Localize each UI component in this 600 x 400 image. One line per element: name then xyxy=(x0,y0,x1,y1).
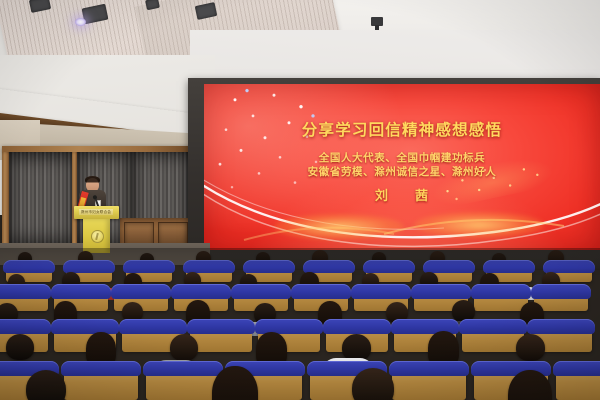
podium-nameplate: 滁州市妇女联合会 xyxy=(79,209,113,215)
auditorium-seat xyxy=(190,326,252,352)
screen-gold-glow-right xyxy=(414,212,544,238)
screen-subtitle-line-1: 全国人大代表、全国巾帼建功标兵 xyxy=(204,151,600,165)
auditorium-seat xyxy=(556,368,600,400)
screen-title: 分享学习回信精神感想感悟 xyxy=(204,118,600,140)
auditorium-seat xyxy=(64,368,138,400)
podium-nameplate-text: 滁州市妇女联合会 xyxy=(79,209,113,215)
wood-trim-vertical-left xyxy=(2,150,9,250)
audience-head xyxy=(352,368,394,400)
wood-trim-vertical-mid xyxy=(72,150,77,248)
led-screen[interactable]: 分享学习回信精神感想感悟 全国人大代表、全国巾帼建功标兵 安徽省劳模、滁州诚信之… xyxy=(204,84,600,254)
screen-subtitle-line-2: 安徽省劳模、滁州诚信之星、滁州好人 xyxy=(204,165,600,179)
speaker-givenname: 茜 xyxy=(415,189,429,204)
auditorium-seat xyxy=(474,291,528,311)
screen-speaker-name: 刘茜 xyxy=(204,185,600,204)
screen-text-block: 分享学习回信精神感想感悟 全国人大代表、全国巾帼建功标兵 安徽省劳模、滁州诚信之… xyxy=(204,118,600,204)
wood-trim-horizontal xyxy=(2,146,194,152)
stage-curtain-left xyxy=(8,152,76,248)
projector-mount-icon xyxy=(371,17,383,26)
audience-seating-area xyxy=(0,248,600,400)
audience-head xyxy=(26,370,66,400)
audience-head xyxy=(342,334,371,361)
auditorium-seat xyxy=(462,326,524,352)
ceiling-spotlight-icon xyxy=(75,18,86,26)
audience-head xyxy=(170,334,198,361)
audience-head xyxy=(516,334,545,361)
auditorium-seat xyxy=(146,368,220,400)
podium-emblem-icon xyxy=(91,230,104,243)
audience-head xyxy=(6,334,34,360)
auditorium-scene: 分享学习回信精神感想感悟 全国人大代表、全国巾帼建功标兵 安徽省劳模、滁州诚信之… xyxy=(0,0,600,400)
screen-gold-glow-left xyxy=(274,214,404,240)
speaker-surname: 刘 xyxy=(375,189,389,204)
screen-subtitle: 全国人大代表、全国巾帼建功标兵 安徽省劳模、滁州诚信之星、滁州好人 xyxy=(204,151,600,179)
auditorium-seat xyxy=(392,368,466,400)
